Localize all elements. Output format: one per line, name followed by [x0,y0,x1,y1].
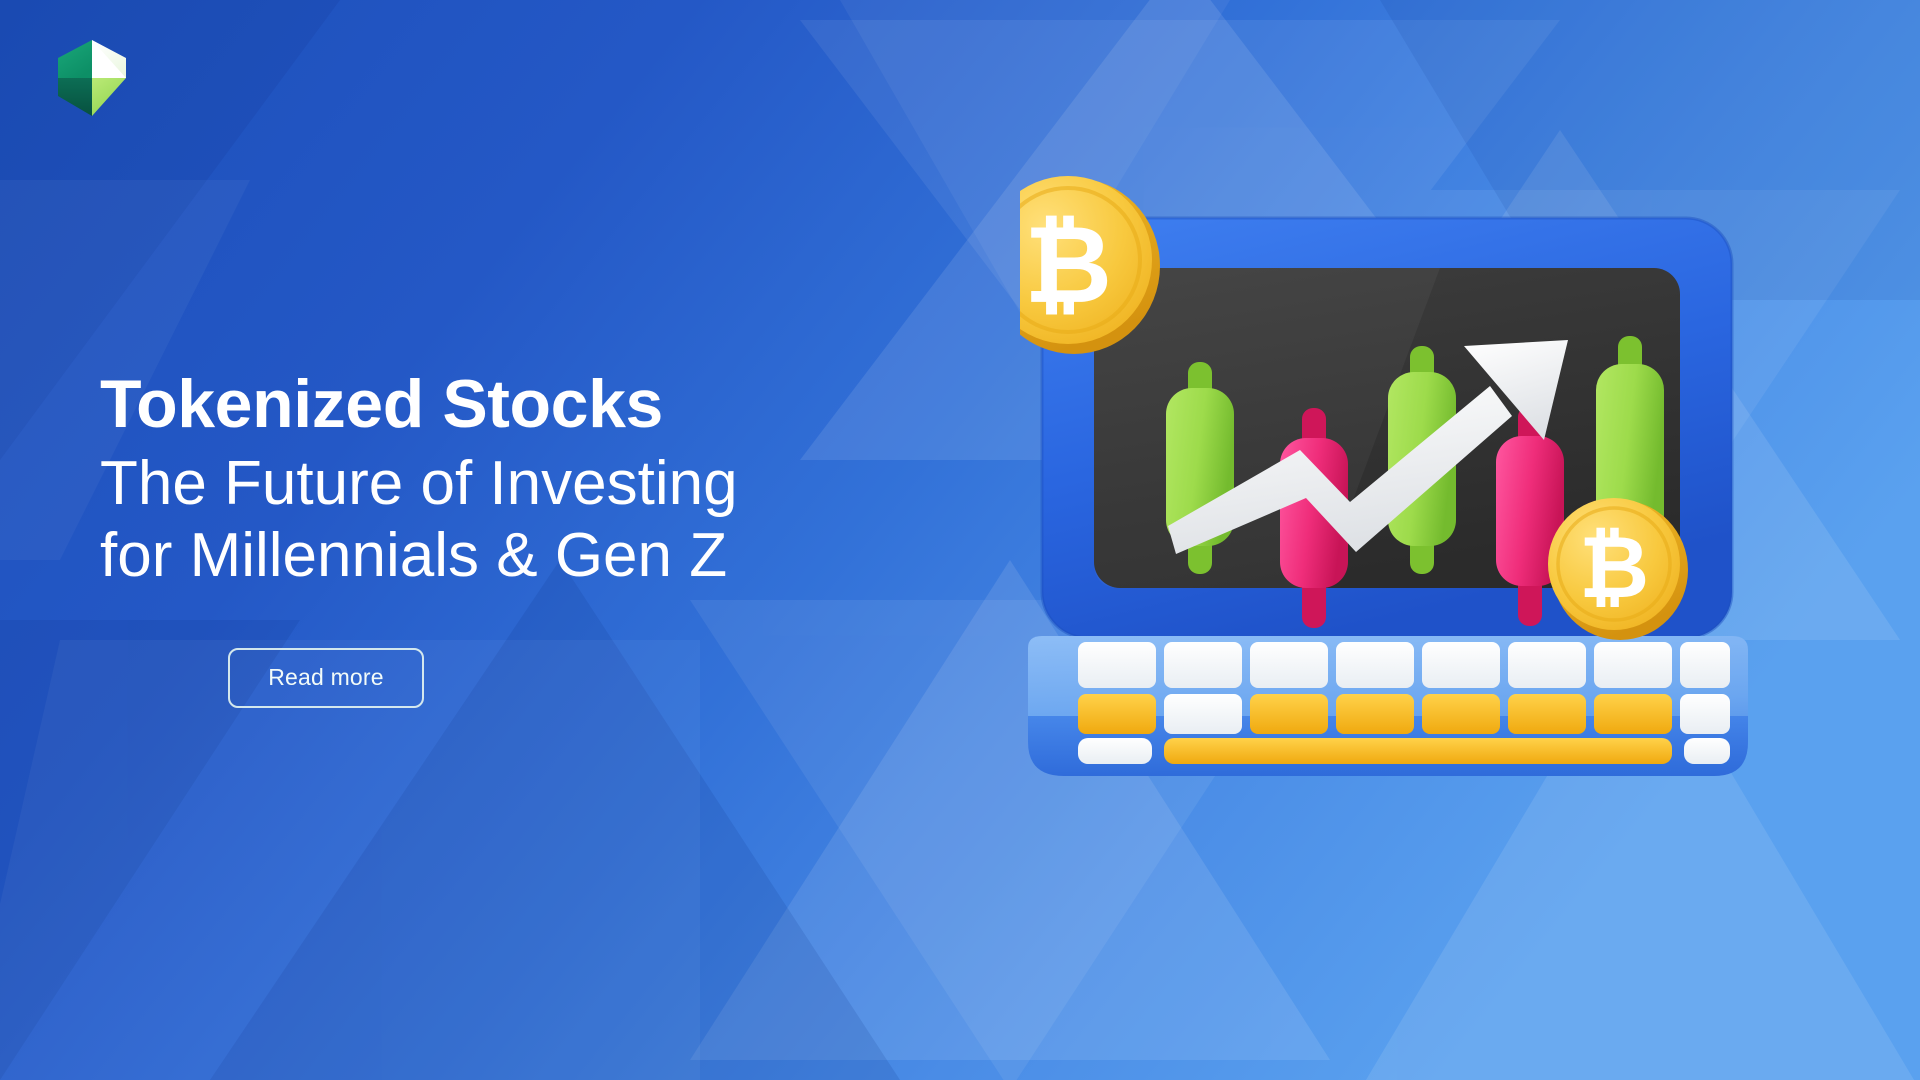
subtitle-line-1: The Future of Investing [100,448,920,520]
svg-text:₿: ₿ [1579,520,1649,616]
cta-row: Read more [100,648,920,708]
page-title: Tokenized Stocks [100,370,920,438]
laptop-trading-chart-illustration: ₿ ₿ [1020,150,1780,870]
svg-text:₿: ₿ [1024,204,1112,325]
subtitle: The Future of Investing for Millennials … [100,448,920,592]
cube-logo-icon[interactable] [52,36,132,120]
read-more-button[interactable]: Read more [228,648,424,708]
laptop-base [1028,636,1748,776]
subtitle-line-2: for Millennials & Gen Z [100,520,920,592]
hero-content: Tokenized Stocks The Future of Investing… [100,370,920,708]
keyboard-keys [1078,642,1730,764]
banner-root: Tokenized Stocks The Future of Investing… [0,0,1920,1080]
